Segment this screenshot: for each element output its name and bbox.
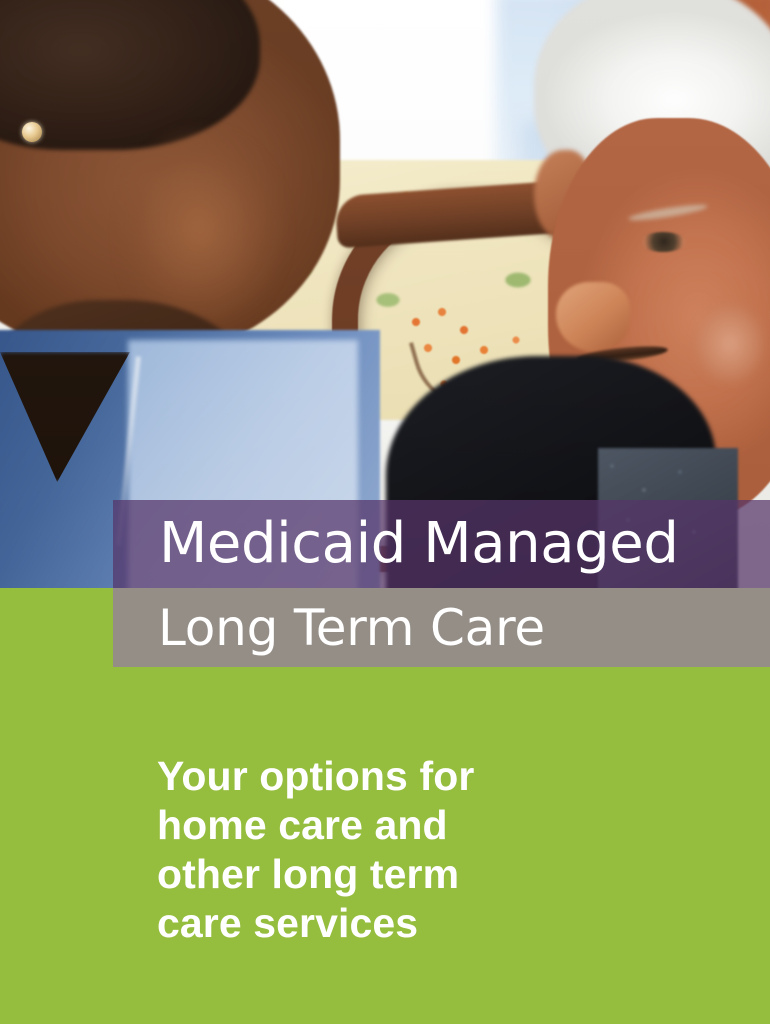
title-band-purple: Medicaid Managed [113, 500, 770, 588]
subtitle-line: Your options for [157, 752, 637, 801]
title-band-gray: Long Term Care [113, 588, 770, 667]
subtitle-block: Your options for home care and other lon… [157, 752, 637, 948]
elderly-woman-nose [556, 282, 630, 352]
brochure-cover: Medicaid Managed Long Term Care Your opt… [0, 0, 770, 1024]
page-title-primary: Medicaid Managed [159, 516, 678, 572]
elderly-woman-cheek-highlight [690, 300, 770, 390]
subtitle-line: care services [157, 899, 637, 948]
subtitle-line: home care and [157, 801, 637, 850]
subtitle-line: other long term [157, 850, 637, 899]
caregiver-earring [22, 122, 42, 142]
page-title-secondary: Long Term Care [158, 603, 545, 653]
elderly-woman-eye [640, 232, 686, 252]
